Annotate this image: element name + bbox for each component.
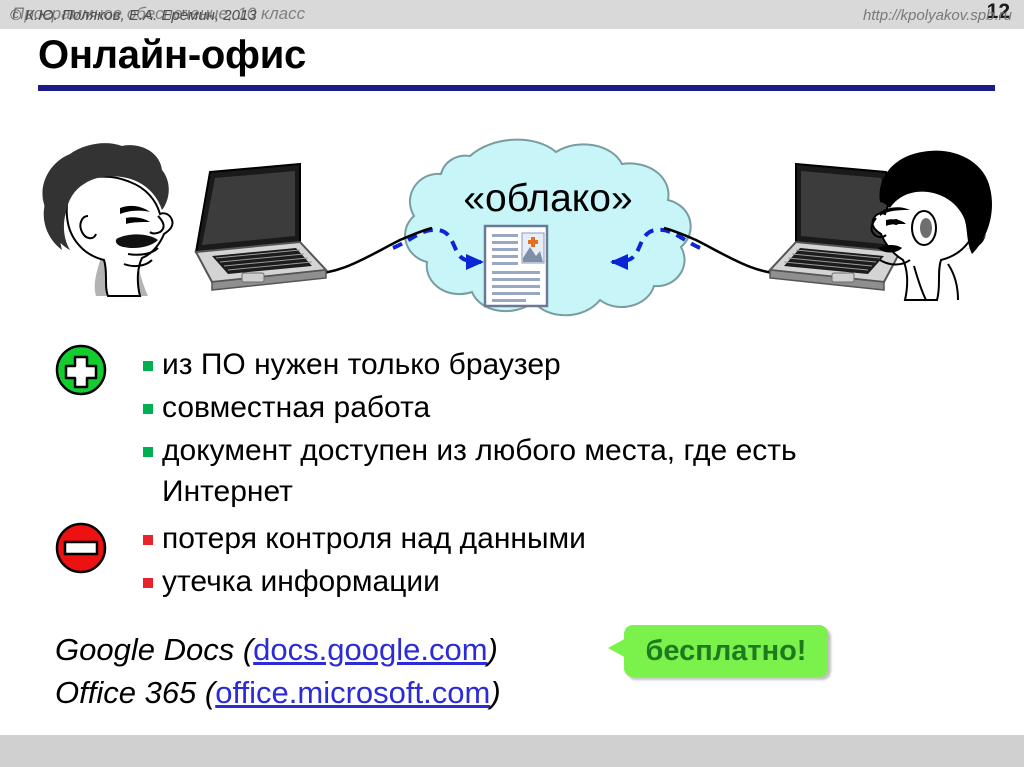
bullet-list: из ПО нужен только браузер совместная ра… [55,344,955,604]
right-person-head-icon [872,151,992,300]
left-laptop-icon [196,164,326,290]
bullet-text: совместная работа [162,387,430,428]
open-paren: ( [234,632,253,667]
link-line: Office 365 (office.microsoft.com) [55,671,501,714]
cons-group: потеря контроля над данными утечка инфор… [55,518,955,602]
link-line: Google Docs (docs.google.com) [55,628,501,671]
bullet-item: из ПО нужен только браузер [143,344,955,385]
close-paren: ) [490,675,500,710]
service-links: Google Docs (docs.google.com) Office 365… [55,628,501,714]
slide: Программное обеспечение, 10 класс 12 Онл… [0,0,1024,767]
bullet-item: утечка информации [143,561,955,602]
con-bullet-marker [143,535,153,545]
bullet-item: совместная работа [143,387,955,428]
close-paren: ) [488,632,498,667]
office-365-link[interactable]: office.microsoft.com [215,675,490,710]
bullet-item: документ доступен из любого места, где е… [143,430,955,512]
con-bullet-marker [143,578,153,588]
cloud-label: «облако» [463,177,632,220]
title-underline-rule [38,85,995,91]
footer-copyright: © К.Ю. Поляков, Е.А. Ерёмин, 2013 [10,7,257,24]
document-icon [485,226,547,306]
service-name: Google Docs [55,632,234,667]
footer-bar [0,735,1024,767]
bullet-text: из ПО нужен только браузер [162,344,561,385]
bullet-text: потеря контроля над данными [162,518,586,559]
green-plus-circle-icon [55,344,107,396]
callout-label: бесплатно! [624,625,828,677]
service-name: Office 365 [55,675,196,710]
bullet-item: потеря контроля над данными [143,518,955,559]
pro-bullet-marker [143,404,153,414]
pro-bullet-marker [143,447,153,457]
bullet-text: документ доступен из любого места, где е… [162,430,797,512]
free-callout: бесплатно! [608,625,828,677]
cloud-illustration: «облако» [0,130,1024,340]
page-title: Онлайн-офис [38,33,306,78]
red-no-entry-icon [55,522,107,574]
google-docs-link[interactable]: docs.google.com [253,632,487,667]
pro-bullet-marker [143,361,153,371]
open-paren: ( [196,675,215,710]
footer-website: http://kpolyakov.spb.ru [863,7,1012,24]
bullet-text: утечка информации [162,561,440,602]
pros-group: из ПО нужен только браузер совместная ра… [55,344,955,512]
left-person-head-icon [42,143,172,296]
